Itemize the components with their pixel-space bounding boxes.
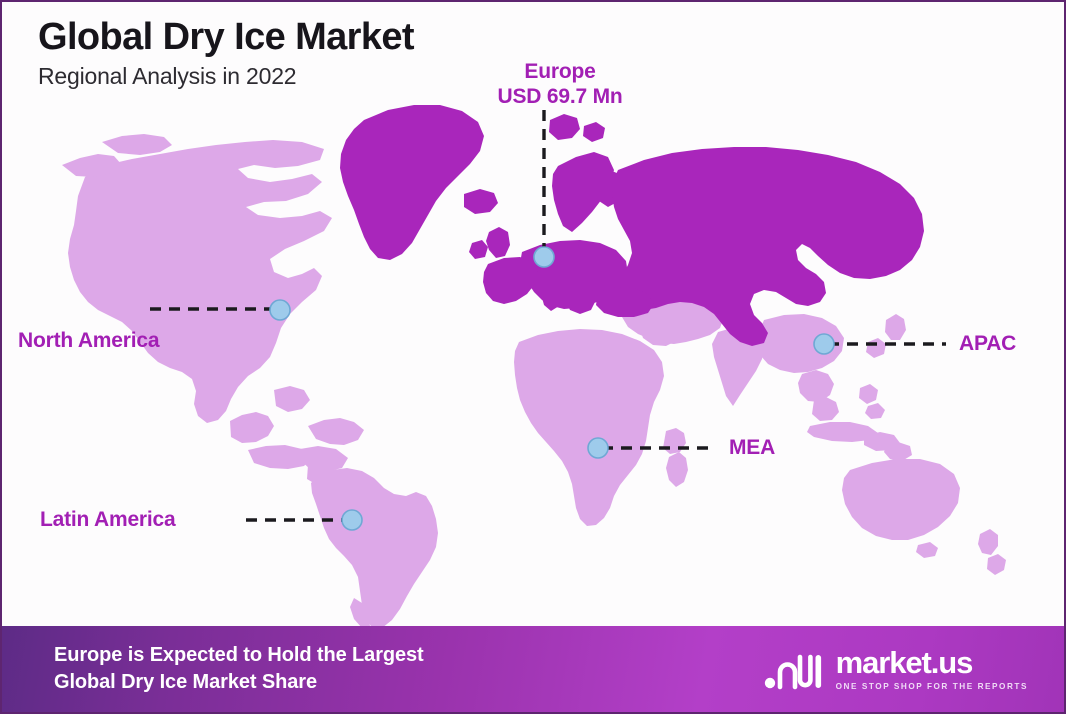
banner-line-2: Global Dry Ice Market Share	[54, 669, 424, 696]
region-label-latin-america[interactable]: Latin America	[40, 508, 176, 533]
map-marker-north-america[interactable]	[270, 300, 290, 320]
map-region-north-america[interactable]	[62, 134, 332, 469]
region-name-north-america: North America	[18, 329, 159, 352]
map-marker-mea[interactable]	[588, 438, 608, 458]
region-label-europe[interactable]: Europe USD 69.7 Mn	[462, 60, 658, 110]
page-title: Global Dry Ice Market	[38, 16, 414, 59]
logo-wordmark: market.us ONE STOP SHOP FOR THE REPORTS	[836, 647, 1028, 691]
map-region-europe[interactable]	[340, 105, 924, 346]
map-region-latin-america[interactable]	[300, 418, 438, 628]
header: Global Dry Ice Market Regional Analysis …	[38, 16, 414, 90]
banner-line-1: Europe is Expected to Hold the Largest	[54, 642, 424, 669]
logo-tagline: ONE STOP SHOP FOR THE REPORTS	[836, 682, 1028, 691]
region-name-europe: Europe	[462, 60, 658, 85]
region-name-apac: APAC	[959, 332, 1016, 355]
region-name-latin-america: Latin America	[40, 508, 176, 531]
market-us-logo[interactable]: market.us ONE STOP SHOP FOR THE REPORTS	[763, 646, 1038, 692]
region-label-apac[interactable]: APAC	[959, 332, 1016, 357]
region-label-north-america[interactable]: North America	[18, 329, 159, 354]
infographic-canvas: Global Dry Ice Market Regional Analysis …	[0, 0, 1066, 714]
region-label-mea[interactable]: MEA	[729, 436, 775, 461]
map-region-africa[interactable]	[514, 329, 686, 526]
footer-banner: Europe is Expected to Hold the Largest G…	[2, 626, 1064, 712]
banner-message: Europe is Expected to Hold the Largest G…	[54, 642, 424, 696]
logo-bars-icon	[763, 646, 825, 692]
map-marker-apac[interactable]	[814, 334, 834, 354]
logo-name: market.us	[836, 647, 1028, 678]
map-marker-latin-america[interactable]	[342, 510, 362, 530]
page-subtitle: Regional Analysis in 2022	[38, 63, 414, 90]
map-marker-europe[interactable]	[534, 247, 554, 267]
region-name-mea: MEA	[729, 436, 775, 459]
region-value-europe: USD 69.7 Mn	[462, 85, 658, 110]
